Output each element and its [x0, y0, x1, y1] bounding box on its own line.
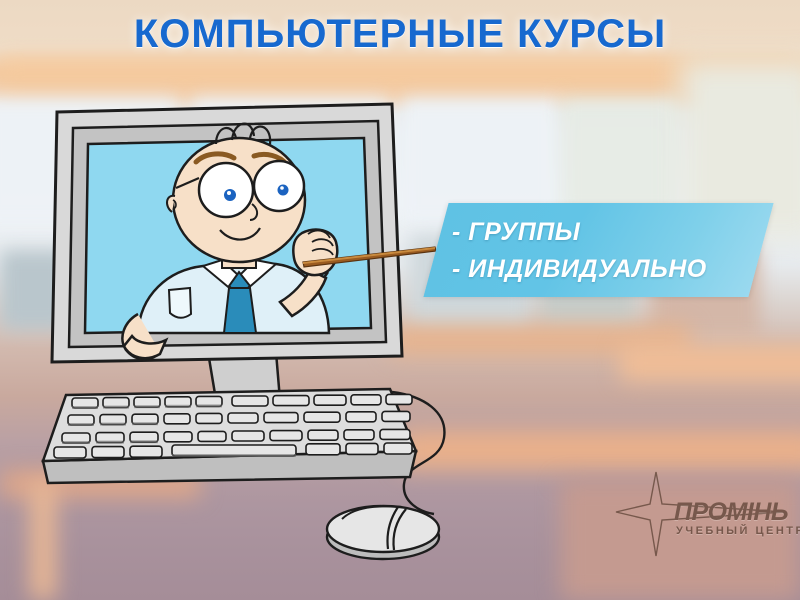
page-title: КОМПЬЮТЕРНЫЕ КУРСЫ — [0, 12, 800, 57]
poster-canvas: КОМПЬЮТЕРНЫЕ КУРСЫ — [0, 0, 800, 600]
info-banner — [423, 203, 773, 297]
mouse-illustration — [320, 485, 450, 565]
background-window-far — [560, 96, 680, 216]
logo-subtitle: УЧЕБНЫЙ ЦЕНТР — [676, 525, 800, 537]
logo: ПРОМІНЬ УЧЕБНЫЙ ЦЕНТР — [612, 470, 792, 560]
background-desk-2 — [620, 345, 800, 381]
logo-name: ПРОМІНЬ — [674, 498, 788, 527]
